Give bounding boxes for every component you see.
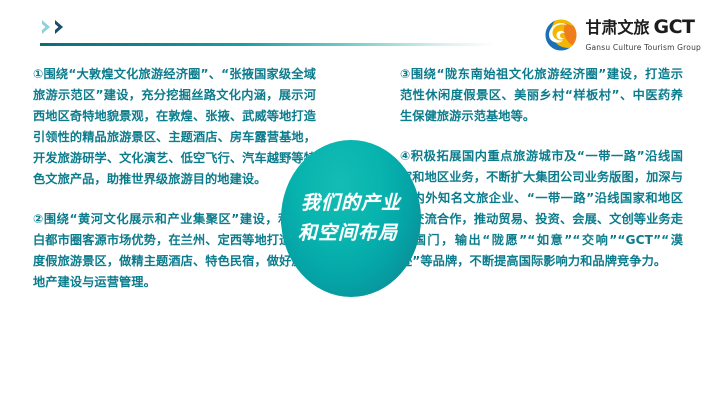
brand-abbr: GCT <box>653 18 694 37</box>
slide-header: 甘肃文旅 GCT Gansu Culture Tourism Group <box>0 0 715 58</box>
paragraph-3: ③围绕“陇东南始祖文化旅游经济圈”建设，打造示范性休闲度假景区、美丽乡村“样板村… <box>400 64 683 127</box>
badge-line-1: 我们的产业 <box>301 189 401 218</box>
brand-logo-text: 甘肃文旅 GCT Gansu Culture Tourism Group <box>585 18 701 53</box>
paragraph-1: ①围绕“大敦煌文化旅游经济圈”、“张掖国家级全域旅游示范区”建设，充分挖掘丝路文… <box>33 64 316 190</box>
badge-line-2: 和空间布局 <box>298 219 398 248</box>
brand-name-cn: 甘肃文旅 <box>585 20 649 36</box>
chevron-decoration <box>40 18 86 36</box>
center-title-badge: 我们的产业 和空间布局 <box>281 140 421 297</box>
brand-logo: 甘肃文旅 GCT Gansu Culture Tourism Group <box>544 17 701 53</box>
slide-canvas: 甘肃文旅 GCT Gansu Culture Tourism Group ①围绕… <box>0 0 715 402</box>
gct-circular-swirl-logo-icon <box>544 18 578 52</box>
left-text-column: ①围绕“大敦煌文化旅游经济圈”、“张掖国家级全域旅游示范区”建设，充分挖掘丝路文… <box>33 64 316 293</box>
paragraph-4: ④积极拓展国内重点旅游城市及“一带一路”沿线国家和地区业务，不断扩大集团公司业务… <box>400 146 683 272</box>
paragraph-2: ②围绕“黄河文化展示和产业集聚区”建设，利用兰白都市圈客源市场优势，在兰州、定西… <box>33 209 316 293</box>
brand-name-en: Gansu Culture Tourism Group <box>585 43 701 52</box>
header-divider-line <box>40 43 495 46</box>
right-text-column: ③围绕“陇东南始祖文化旅游经济圈”建设，打造示范性休闲度假景区、美丽乡村“样板村… <box>400 64 683 272</box>
